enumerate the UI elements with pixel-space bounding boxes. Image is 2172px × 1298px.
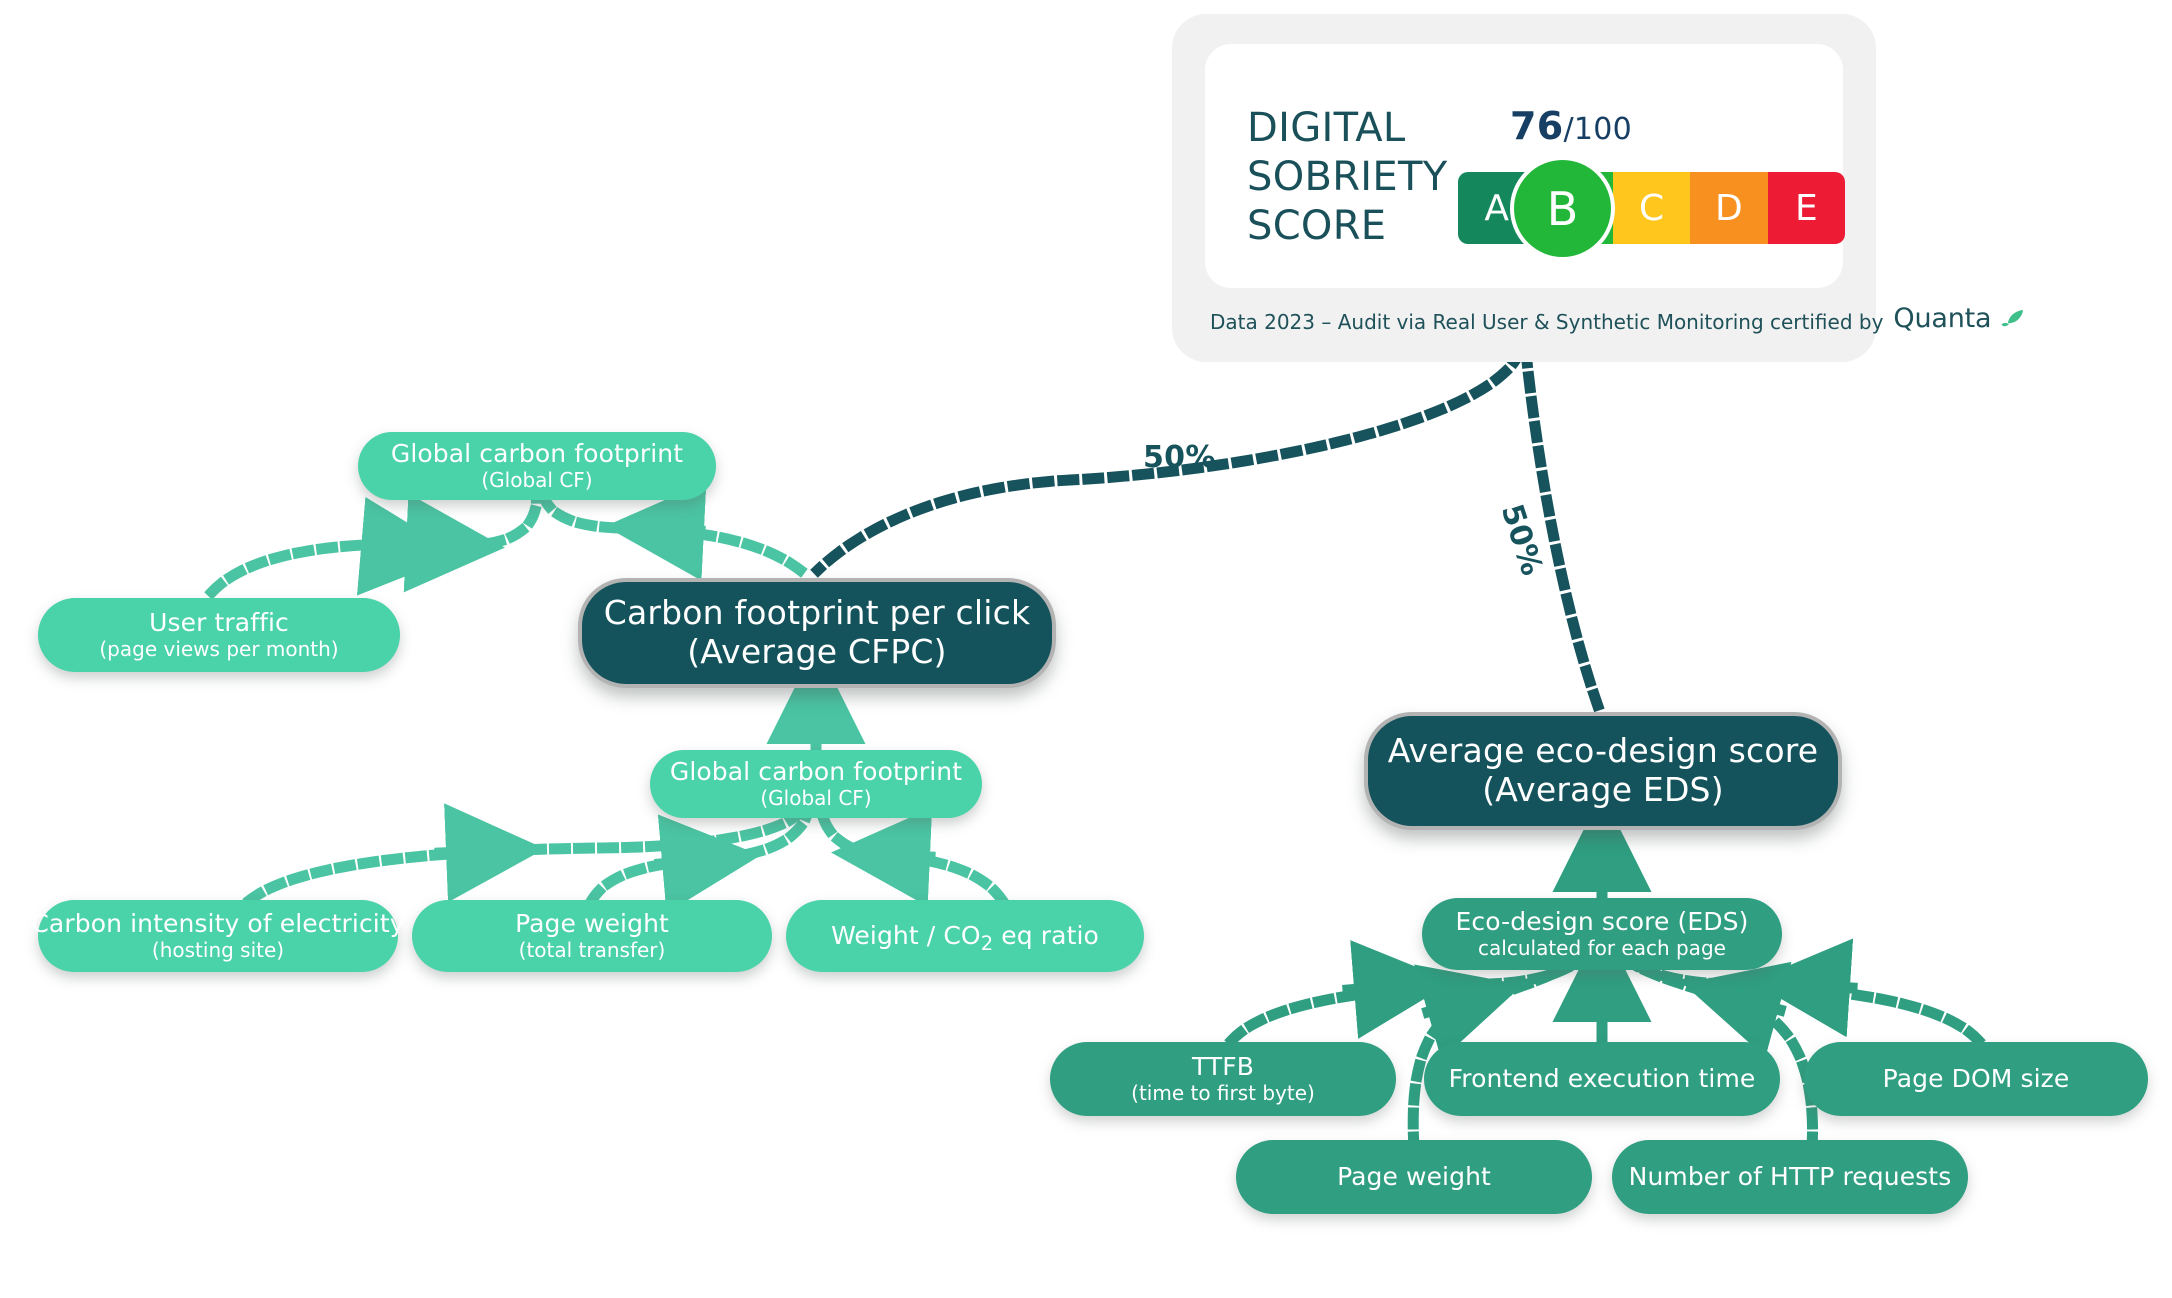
node-eco-design-score-page[interactable]: Eco-design score (EDS) calculated for ea… (1422, 898, 1782, 970)
edge-cfpc-arrowhead (660, 529, 700, 531)
node-global-carbon-footprint-bottom[interactable]: Global carbon footprint (Global CF) (650, 750, 982, 818)
node-title: Global carbon footprint (670, 758, 962, 786)
node-title: Global carbon footprint (391, 440, 683, 468)
node-subtitle: (page views per month) (99, 638, 338, 660)
brand-name: Quanta (1893, 303, 1991, 334)
node-subtitle: calculated for each page (1478, 937, 1726, 959)
current-grade-badge: B (1510, 156, 1615, 261)
score-card-footer: Data 2023 – Audit via Real User & Synthe… (1210, 303, 2025, 334)
grade-segment-e[interactable]: E (1768, 172, 1845, 244)
edge-usertraffic-arrowhead (370, 547, 405, 550)
grade-segment-d[interactable]: D (1690, 172, 1767, 244)
node-title: Frontend execution time (1449, 1065, 1756, 1093)
edge-pageweightleft-arrowhead (660, 860, 706, 864)
node-page-dom-size[interactable]: Page DOM size (1804, 1042, 2148, 1116)
score-card-inner-panel: DIGITAL SOBRIETY SCORE 76/100 A B C D E … (1205, 44, 1843, 288)
node-title-subscript: 2 (981, 932, 994, 955)
score-card-title: DIGITAL SOBRIETY SCORE (1247, 104, 1447, 250)
leaf-icon (2001, 308, 2025, 334)
edge-label-cfpc-weight: 50% (1143, 440, 1216, 475)
node-title: Weight / CO2 eq ratio (831, 922, 1099, 950)
node-title: Average eco-design score (1388, 733, 1819, 770)
node-average-eco-design-score[interactable]: Average eco-design score (Average EDS) (1364, 712, 1842, 830)
node-title: Page DOM size (1883, 1065, 2070, 1093)
node-subtitle: (Average CFPC) (687, 634, 947, 671)
edge-ttfb-arrowhead (1348, 986, 1398, 990)
digital-sobriety-score-card: DIGITAL SOBRIETY SCORE 76/100 A B C D E … (1172, 14, 1876, 362)
node-title: User traffic (149, 609, 289, 637)
score-denominator: /100 (1563, 112, 1632, 147)
node-subtitle: (time to first byte) (1131, 1082, 1315, 1104)
node-weight-co2-eq-ratio[interactable]: Weight / CO2 eq ratio (786, 900, 1144, 972)
node-page-weight-right[interactable]: Page weight (1236, 1140, 1592, 1214)
node-user-traffic[interactable]: User traffic (page views per month) (38, 598, 400, 672)
node-global-carbon-footprint-top[interactable]: Global carbon footprint (Global CF) (358, 432, 716, 500)
node-subtitle: (Global CF) (760, 787, 871, 809)
node-number-of-http-requests[interactable]: Number of HTTP requests (1612, 1140, 1968, 1214)
node-subtitle: (hosting site) (152, 939, 284, 961)
score-value-readout: 76/100 (1510, 104, 1632, 148)
node-title: Page weight (515, 910, 669, 938)
edge-weightco2-arrowhead (886, 855, 930, 857)
node-frontend-execution-time[interactable]: Frontend execution time (1424, 1042, 1780, 1116)
node-title: Carbon intensity of electricity (31, 910, 404, 938)
score-number: 76 (1510, 104, 1563, 148)
node-subtitle: (Global CF) (481, 469, 592, 491)
node-subtitle: (Average EDS) (1482, 772, 1724, 809)
node-title-pre: Weight / CO (831, 921, 981, 950)
node-ttfb[interactable]: TTFB (time to first byte) (1050, 1042, 1396, 1116)
node-title: Number of HTTP requests (1629, 1163, 1952, 1191)
node-title: Carbon footprint per click (604, 595, 1031, 632)
diagram-canvas: 50% 50% Global carbon footprint (Global … (0, 0, 2172, 1298)
node-title: Eco-design score (EDS) (1456, 908, 1749, 936)
edge-carbonintensity-arrowhead (440, 851, 490, 853)
score-card-footer-text: Data 2023 – Audit via Real User & Synthe… (1210, 310, 1883, 334)
node-page-weight-left[interactable]: Page weight (total transfer) (412, 900, 772, 972)
node-title: TTFB (1192, 1053, 1254, 1081)
grade-segment-c[interactable]: C (1613, 172, 1690, 244)
node-carbon-footprint-per-click[interactable]: Carbon footprint per click (Average CFPC… (578, 578, 1056, 688)
edge-pagedom-arrowhead (1806, 985, 1852, 988)
edge-carbonintensity-to-globalcf (250, 812, 800, 900)
node-title: Page weight (1337, 1163, 1491, 1191)
node-title-post: eq ratio (993, 921, 1099, 950)
node-carbon-intensity-of-electricity[interactable]: Carbon intensity of electricity (hosting… (38, 900, 398, 972)
node-subtitle: (total transfer) (519, 939, 666, 961)
